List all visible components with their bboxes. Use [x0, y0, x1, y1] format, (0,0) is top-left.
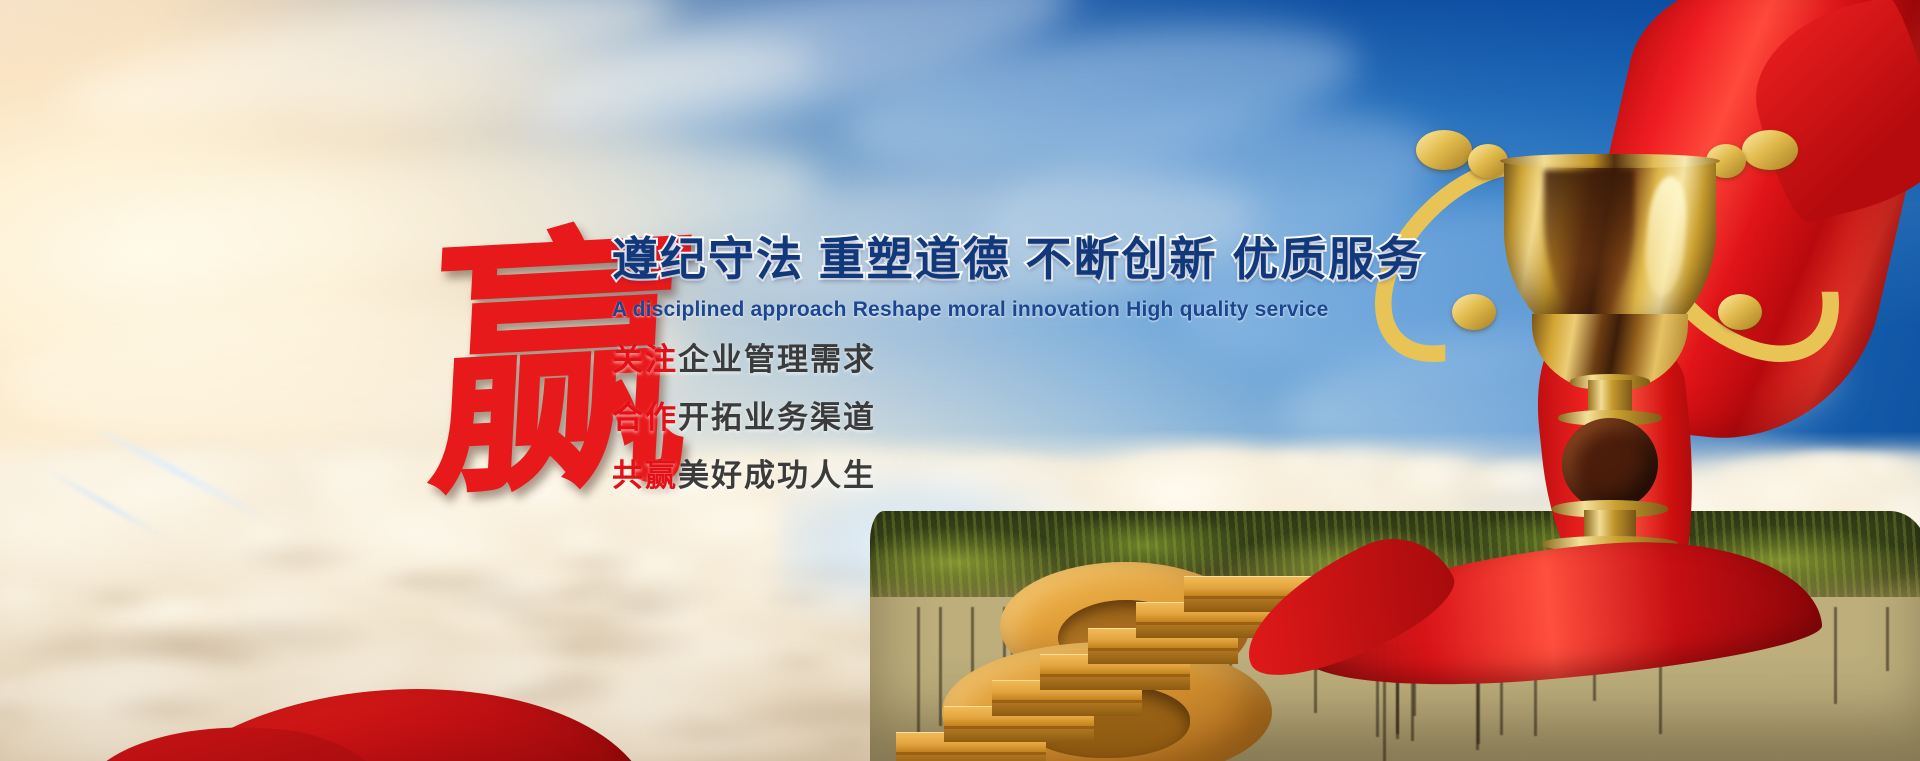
- trophy-collar: [1542, 536, 1678, 552]
- gold-trophy-icon: [1392, 118, 1822, 618]
- cliff-crack: [1376, 607, 1379, 737]
- cliff-crack: [1886, 607, 1889, 671]
- stair-riser: [1136, 622, 1286, 638]
- cloud-puff: [355, 459, 426, 488]
- cloud-shadow-puff: [229, 541, 365, 571]
- stair-riser: [1088, 648, 1238, 664]
- stair-riser: [1184, 596, 1334, 612]
- headline-subtitle-english: A disciplined approach Reshape moral inn…: [612, 298, 1372, 322]
- cliff-crack: [1477, 607, 1480, 744]
- trophy-ornament: [1742, 130, 1798, 170]
- stair-riser: [992, 700, 1142, 716]
- trophy-base: [1528, 570, 1692, 632]
- slogan-highlight: 关注: [612, 342, 678, 377]
- trophy-ornament: [1452, 294, 1496, 330]
- cliff-crack: [1500, 607, 1503, 735]
- cliff-crack: [1413, 607, 1416, 716]
- slogan-body: 开拓业务渠道: [678, 400, 876, 435]
- cliff-crack: [1396, 607, 1399, 734]
- cloud-shadow-puff: [551, 552, 647, 573]
- cliff-crack: [1383, 607, 1386, 761]
- trophy-rim: [1500, 154, 1720, 168]
- slogan-highlight: 合作: [612, 400, 678, 435]
- slogan-line: 关注企业管理需求: [612, 344, 1372, 375]
- slogan-body: 美好成功人生: [678, 458, 876, 493]
- cliff-crack: [1314, 607, 1317, 713]
- stair-riser: [1040, 674, 1190, 690]
- cloud-shadow-puff: [567, 576, 632, 590]
- banner-root: 赢 遵纪守法 重塑道德 不断创新 优质服务 A disciplined appr…: [0, 0, 1920, 761]
- stair-riser: [944, 726, 1094, 742]
- slogan-line: 合作开拓业务渠道: [612, 402, 1372, 433]
- cloud-shadow-puff: [78, 588, 156, 605]
- trophy-ornament: [1718, 294, 1762, 330]
- slogan-line: 共赢美好成功人生: [612, 460, 1372, 491]
- cliff-crack: [1834, 607, 1837, 704]
- slogan-line-list: 关注企业管理需求合作开拓业务渠道共赢美好成功人生: [612, 344, 1372, 491]
- trophy-knob: [1562, 418, 1658, 510]
- gold-dollar-sign-icon: [890, 556, 1310, 761]
- trophy-ornament: [1416, 130, 1472, 170]
- headline-slogan: 遵纪守法 重塑道德 不断创新 优质服务: [612, 236, 1372, 284]
- stair-step: [1184, 576, 1334, 596]
- banner-copy: 遵纪守法 重塑道德 不断创新 优质服务 A disciplined approa…: [612, 236, 1372, 518]
- slogan-highlight: 共赢: [612, 458, 678, 493]
- slogan-body: 企业管理需求: [678, 342, 876, 377]
- stair-riser: [896, 752, 1046, 761]
